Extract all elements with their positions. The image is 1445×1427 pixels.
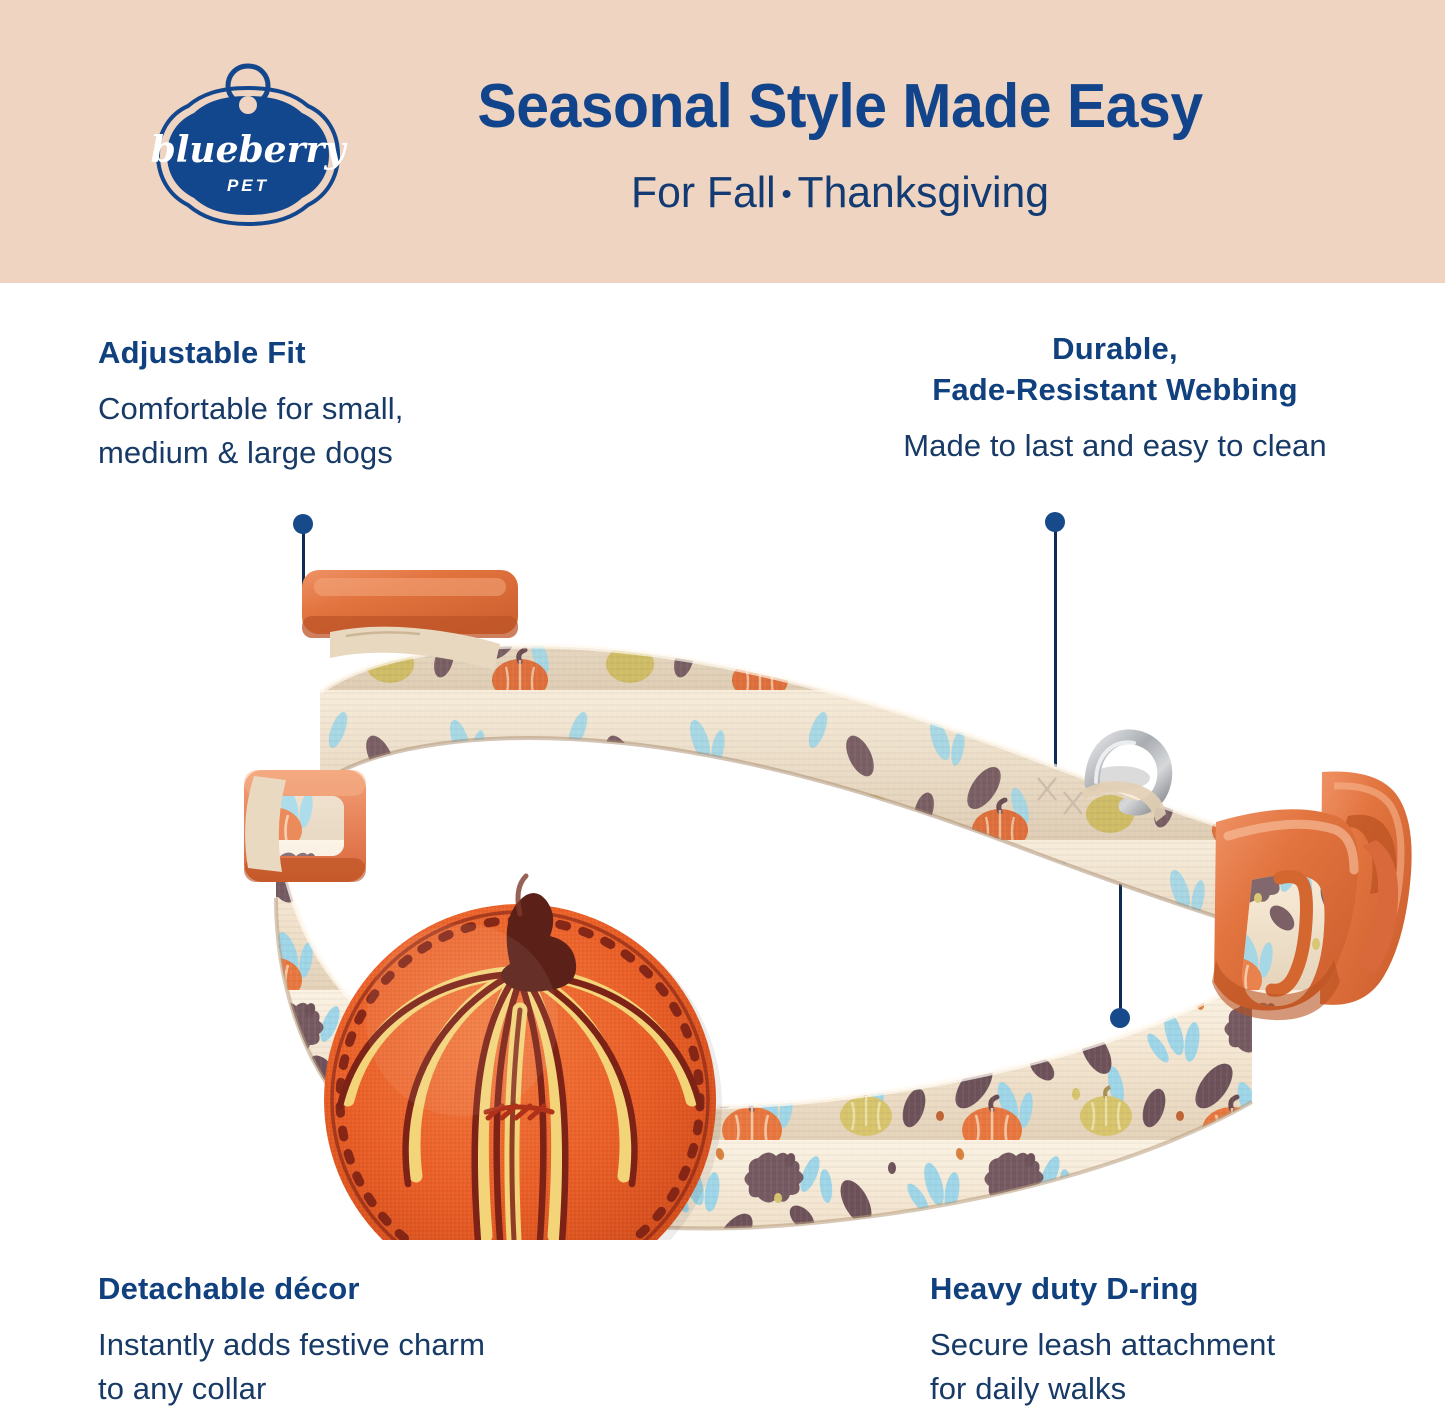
feature-detachable-decor: Detachable décor Instantly adds festive … bbox=[98, 1270, 618, 1411]
feature-title-adjustable-fit: Adjustable Fit bbox=[98, 334, 568, 373]
page-subtitle: For Fall•Thanksgiving bbox=[374, 168, 1305, 218]
feature-body-detachable-line2: to any collar bbox=[98, 1367, 618, 1411]
slider-adjuster-bottom bbox=[244, 770, 366, 882]
logo-sub-text: PET bbox=[227, 176, 269, 195]
infographic-root: blueberry PET Seasonal Style Made Easy F… bbox=[0, 0, 1445, 1427]
feature-body-d-ring-line2: for daily walks bbox=[930, 1367, 1400, 1411]
collar-illustration bbox=[180, 540, 1440, 1240]
blueberry-pet-logo-icon: blueberry PET bbox=[148, 58, 348, 248]
subtitle-holiday: Thanksgiving bbox=[798, 168, 1049, 217]
callout-dot bbox=[1045, 512, 1065, 532]
callout-dot bbox=[293, 514, 313, 534]
feature-body-detachable-line1: Instantly adds festive charm bbox=[98, 1323, 618, 1367]
feature-body-durable-line1: Made to last and easy to clean bbox=[880, 424, 1350, 468]
feature-durable-webbing: Durable, Fade-Resistant Webbing Made to … bbox=[880, 330, 1350, 468]
page-title: Seasonal Style Made Easy bbox=[384, 74, 1296, 139]
pumpkin-charm bbox=[324, 876, 722, 1240]
subtitle-season: For Fall bbox=[631, 168, 776, 217]
header-banner: blueberry PET Seasonal Style Made Easy F… bbox=[0, 0, 1445, 283]
feature-body-d-ring-line1: Secure leash attachment bbox=[930, 1323, 1400, 1367]
feature-body-adjustable-fit-line1: Comfortable for small, bbox=[98, 387, 568, 431]
feature-title-detachable-decor: Detachable décor bbox=[98, 1270, 618, 1309]
product-image-dog-collar bbox=[180, 540, 1440, 1240]
feature-title-durable-line1: Durable, bbox=[880, 330, 1350, 369]
side-release-buckle bbox=[1212, 772, 1412, 1021]
feature-body-adjustable-fit-line2: medium & large dogs bbox=[98, 431, 568, 475]
logo-brand-text: blueberry bbox=[151, 129, 348, 171]
feature-adjustable-fit: Adjustable Fit Comfortable for small, me… bbox=[98, 334, 568, 475]
feature-title-d-ring: Heavy duty D-ring bbox=[930, 1270, 1400, 1309]
brand-logo: blueberry PET bbox=[148, 58, 348, 248]
feature-d-ring: Heavy duty D-ring Secure leash attachmen… bbox=[930, 1270, 1400, 1411]
subtitle-separator-dot: • bbox=[776, 178, 798, 211]
feature-title-durable-line2: Fade-Resistant Webbing bbox=[880, 371, 1350, 410]
